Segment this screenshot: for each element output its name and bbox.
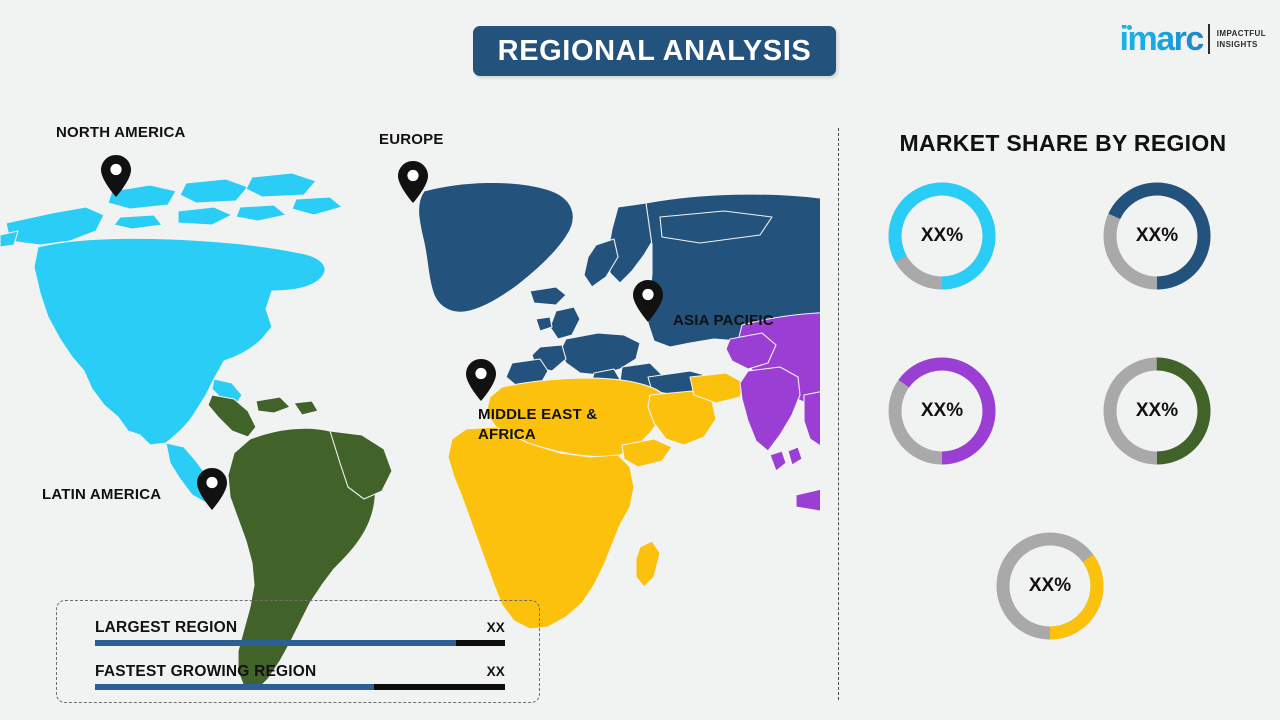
legend-bar-fastest-growing-region [95, 684, 505, 690]
regional-analysis-infographic: REGIONAL ANALYSIS imarc IMPACTFUL INSIGH… [0, 0, 1280, 720]
map-label-asia-pacific: ASIA PACIFIC [673, 311, 774, 331]
panel-divider [838, 128, 839, 700]
page-title: REGIONAL ANALYSIS [498, 35, 812, 68]
legend-label-fastest-growing-region: FASTEST GROWING REGION [95, 663, 316, 681]
donut-chart-europe[interactable]: XX% [1099, 178, 1215, 294]
region-summary-box: LARGEST REGION XX FASTEST GROWING REGION… [56, 600, 540, 703]
map-pin-asia-pacific-icon[interactable] [633, 280, 663, 322]
map-label-latin-america: LATIN AMERICA [42, 485, 161, 505]
logo-wordmark: imarc [1120, 22, 1205, 56]
legend-value-fastest-growing-region: XX [487, 664, 505, 679]
market-share-title: MARKET SHARE BY REGION [846, 130, 1280, 157]
donut-chart-latin-america[interactable]: XX% [1099, 353, 1215, 469]
legend-bar-fill-largest-region [95, 640, 456, 646]
donut-chart-north-america[interactable]: XX% [884, 178, 1000, 294]
donut-chart-asia-pacific[interactable]: XX% [884, 353, 1000, 469]
map-pin-latin-america-icon[interactable] [197, 468, 227, 510]
legend-label-largest-region: LARGEST REGION [95, 619, 237, 637]
map-pin-europe-icon[interactable] [398, 161, 428, 203]
map-pin-north-america-icon[interactable] [101, 155, 131, 197]
donut-europe-graphic [1099, 178, 1215, 294]
legend-row-largest-region: LARGEST REGION XX [95, 619, 505, 646]
world-map-panel: NORTH AMERICA EUROPE ASIA PACIFIC MIDDLE… [0, 95, 820, 685]
donut-north-america-graphic [884, 178, 1000, 294]
donut-latin-america-graphic [1099, 353, 1215, 469]
map-label-north-america: NORTH AMERICA [56, 123, 186, 143]
legend-value-largest-region: XX [487, 620, 505, 635]
legend-row-fastest-growing-region: FASTEST GROWING REGION XX [95, 663, 505, 690]
map-pin-middle-east-africa-icon[interactable] [466, 359, 496, 401]
donut-middle-east-africa-graphic [992, 528, 1108, 644]
logo-tagline-line2: INSIGHTS [1217, 39, 1266, 50]
donut-chart-middle-east-africa[interactable]: XX% [992, 528, 1108, 644]
legend-bar-largest-region [95, 640, 505, 646]
logo-dot-icon [1127, 25, 1132, 30]
map-region-asia-pacific [726, 311, 820, 647]
imarc-logo: imarc IMPACTFUL INSIGHTS [1120, 18, 1266, 60]
market-share-panel: MARKET SHARE BY REGION XX% XX% XX% [846, 120, 1280, 710]
page-title-badge: REGIONAL ANALYSIS [473, 26, 836, 76]
donut-asia-pacific-graphic [884, 353, 1000, 469]
map-label-middle-east-africa: MIDDLE EAST & AFRICA [478, 405, 597, 445]
map-label-europe: EUROPE [379, 130, 444, 150]
logo-tagline: IMPACTFUL INSIGHTS [1217, 28, 1266, 50]
logo-tagline-line1: IMPACTFUL [1217, 28, 1266, 39]
logo-divider [1208, 24, 1210, 54]
legend-bar-fill-fastest-growing-region [95, 684, 374, 690]
